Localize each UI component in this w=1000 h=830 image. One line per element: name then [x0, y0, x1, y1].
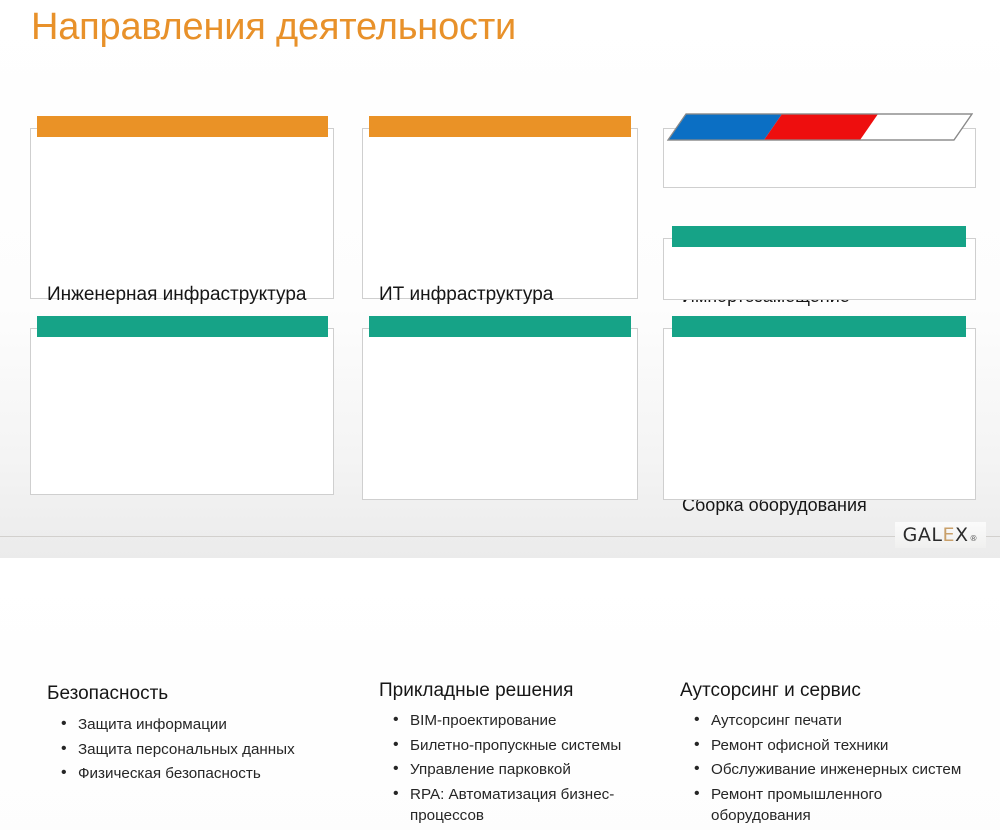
card-accent-bar-outsourcing — [672, 316, 966, 337]
card-accent-bar-security — [37, 316, 328, 337]
list-item: Аутсорсинг печати — [694, 710, 965, 732]
registered-trademark-icon: ® — [970, 534, 979, 543]
list-item: RPA: Автоматизация бизнес-процессов — [393, 784, 627, 827]
galex-logo: GALEX® — [895, 522, 986, 548]
list-item: Физическая безопасность — [61, 763, 323, 785]
card-accent-bar-it — [369, 116, 631, 137]
card-engineering-infrastructure[interactable]: Инженерная инфраструктура Диспетчеризаци… — [30, 128, 334, 299]
card-accent-bar-applications — [369, 316, 631, 337]
logo-part-2: X — [955, 524, 969, 546]
list-item: Защита информации — [61, 714, 323, 736]
card-title-outsourcing: Аутсорсинг и сервис — [680, 680, 861, 702]
bullet-list-outsourcing: Аутсорсинг печати Ремонт офисной техники… — [694, 710, 965, 830]
footer-divider — [0, 536, 1000, 537]
bullet-list-security: Защита информации Защита персональных да… — [61, 714, 323, 788]
list-item: Ремонт промышленного оборудования — [694, 784, 965, 827]
bullet-list-applied-solutions: BIM-проектирование Билетно-пропускные си… — [393, 710, 627, 830]
card-title-applied-solutions: Прикладные решения — [379, 680, 573, 702]
card-security[interactable]: Безопасность Защита информации Защита пе… — [30, 328, 334, 495]
slide-canvas: Направления деятельности Инженерная инфр… — [0, 0, 1000, 558]
card-accent-bar-assembly — [672, 226, 966, 247]
list-item: Билетно-пропускные системы — [393, 735, 627, 757]
page-title: Направления деятельности — [31, 6, 516, 49]
list-item: Обслуживание инженерных систем — [694, 759, 965, 781]
card-accent-bar-engineering — [37, 116, 328, 137]
card-applied-solutions[interactable]: Прикладные решения BIM-проектирование Би… — [362, 328, 638, 500]
list-item: Ремонт офисной техники — [694, 735, 965, 757]
card-title-engineering: Инженерная инфраструктура — [47, 284, 306, 306]
card-title-security: Безопасность — [47, 683, 168, 705]
card-equipment-assembly[interactable]: Сборка оборудования — [663, 238, 976, 300]
russian-flag-ribbon-icon — [660, 112, 980, 144]
logo-accent-letter: E — [942, 524, 955, 546]
logo-part-1: GAL — [903, 524, 943, 546]
list-item: BIM-проектирование — [393, 710, 627, 732]
logo-text: GALEX® — [903, 524, 978, 546]
list-item: Управление парковкой — [393, 759, 627, 781]
card-it-infrastructure[interactable]: ИТ инфраструктура Инфраструктура ЦОД Мул… — [362, 128, 638, 299]
list-item: Защита персональных данных — [61, 739, 323, 761]
card-title-it: ИТ инфраструктура — [379, 284, 553, 306]
card-outsourcing-service[interactable]: Аутсорсинг и сервис Аутсорсинг печати Ре… — [663, 328, 976, 500]
